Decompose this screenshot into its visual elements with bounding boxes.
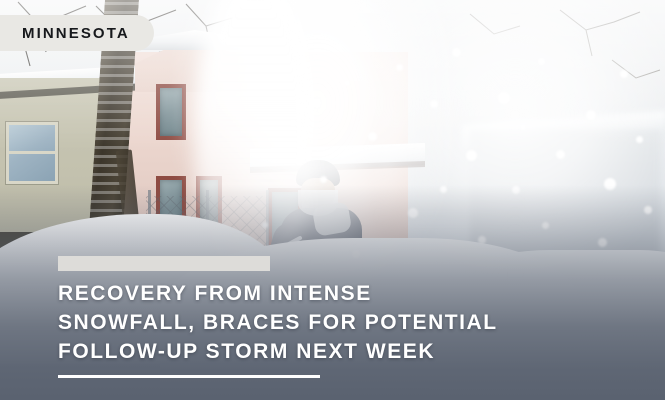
headline-underline-rule [58, 375, 320, 378]
headline-line-2: SNOWFALL, BRACES FOR POTENTIAL [58, 311, 498, 334]
headline-line-3: FOLLOW-UP STORM NEXT WEEK [58, 340, 435, 363]
region-badge-label: MINNESOTA [22, 26, 130, 41]
region-badge[interactable]: MINNESOTA [0, 15, 154, 51]
news-card: MINNESOTA RECOVERY FROM INTENSE SNOWFALL… [0, 0, 665, 400]
headline-block: RECOVERY FROM INTENSE SNOWFALL, BRACES F… [58, 256, 618, 378]
kicker-bar [58, 256, 270, 271]
headline: RECOVERY FROM INTENSE SNOWFALL, BRACES F… [58, 279, 618, 366]
headline-line-1: RECOVERY FROM INTENSE [58, 282, 372, 305]
